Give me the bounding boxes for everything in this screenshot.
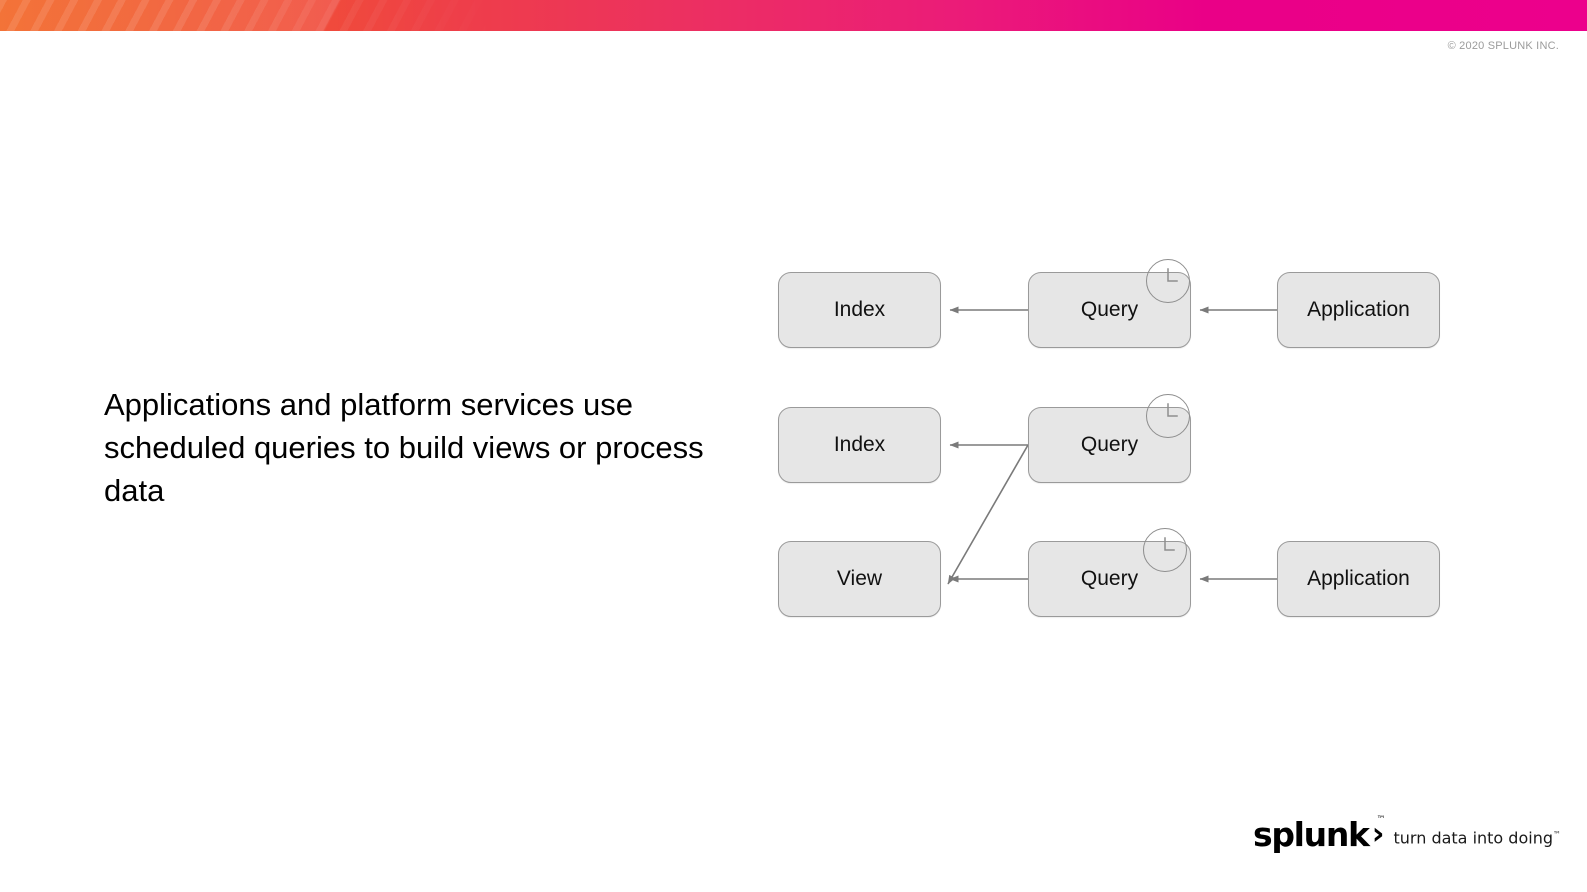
page-title: Applications and platform services use s… [104,383,764,512]
splunk-logo: splunk › ™ turn data into doing™ [1253,818,1561,851]
banner-stripes [0,0,530,31]
node-query-1[interactable]: Query [1028,272,1191,348]
node-query-2[interactable]: Query [1028,407,1191,483]
edge-query2-to-view1 [948,445,1028,584]
node-index-1[interactable]: Index [778,272,941,348]
node-application-2[interactable]: Application [1277,541,1440,617]
node-label: Application [1307,298,1410,322]
node-application-1[interactable]: Application [1277,272,1440,348]
node-index-2[interactable]: Index [778,407,941,483]
splunk-wordmark: splunk [1253,818,1369,851]
node-label: Query [1081,567,1138,591]
tagline-text: turn data into doing [1394,828,1553,847]
splunk-tagline: turn data into doing™ [1394,825,1561,848]
clock-icon [1146,259,1190,303]
node-label: Query [1081,433,1138,457]
node-view-1[interactable]: View [778,541,941,617]
splunk-chevron-icon: › ™ [1372,818,1385,851]
trademark-mark: ™ [1377,816,1386,825]
clock-icon [1146,394,1190,438]
node-label: Query [1081,298,1138,322]
node-label: Index [834,433,885,457]
node-label: Application [1307,567,1410,591]
copyright-notice: © 2020 SPLUNK INC. [1448,40,1559,52]
tagline-trademark: ™ [1553,830,1561,839]
decorative-gradient-banner [0,0,1587,31]
node-query-3[interactable]: Query [1028,541,1191,617]
clock-icon [1143,528,1187,572]
slide-canvas: © 2020 SPLUNK INC. Applications and plat… [0,0,1587,892]
node-label: View [837,567,882,591]
node-label: Index [834,298,885,322]
